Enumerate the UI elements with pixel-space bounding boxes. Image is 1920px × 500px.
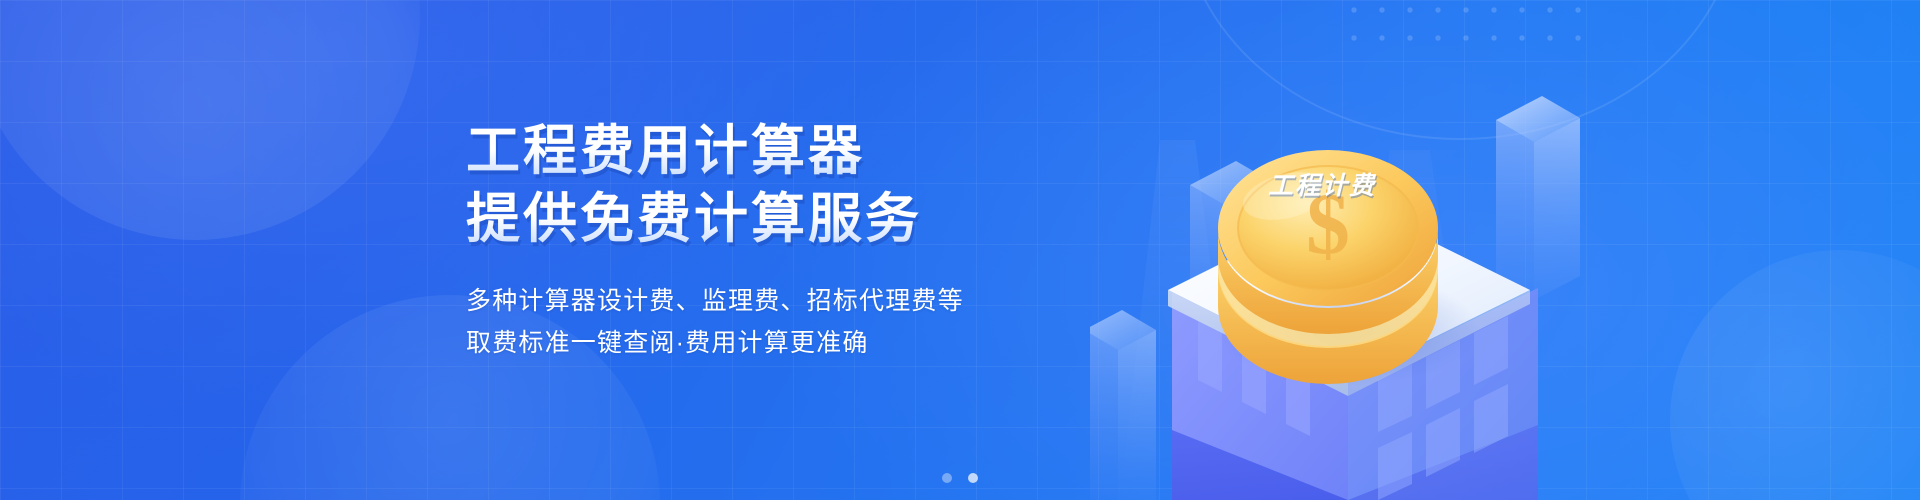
light-beams <box>1120 140 1480 500</box>
illustration-label: 工程计费 <box>1268 166 1376 202</box>
coin-shadow <box>1216 274 1480 386</box>
decorative-dot-grid <box>1340 0 1590 42</box>
carousel-dot-2[interactable] <box>968 473 978 483</box>
banner-subtitle-line-1: 多种计算器设计费、监理费、招标代理费等 <box>466 280 964 322</box>
isometric-platform <box>1168 200 1530 396</box>
coin-dollar-symbol: $ <box>1306 176 1350 273</box>
background-bar-mid-left <box>1190 161 1274 340</box>
illustration-svg: $ <box>1090 0 1610 500</box>
decorative-arc-top-right <box>1180 0 1740 140</box>
banner-title-line-2: 提供免费计算服务 <box>466 188 964 250</box>
banner-title-line-1: 工程费用计算器 <box>466 120 964 182</box>
decorative-circle-right <box>1670 250 1920 500</box>
background-bar-left-small <box>1090 310 1156 500</box>
carousel-dots[interactable] <box>0 473 1920 483</box>
banner-illustration: $ 工程计费 <box>1090 0 1610 500</box>
gold-coin-stack: $ <box>1218 150 1438 384</box>
building-windows-left <box>1198 318 1310 436</box>
background-bar-far-right <box>1496 96 1580 300</box>
carousel-dot-1[interactable] <box>942 473 952 483</box>
banner-text-content: 工程费用计算器 提供免费计算服务 多种计算器设计费、监理费、招标代理费等 取费标… <box>466 0 964 500</box>
hero-banner: 工程费用计算器 提供免费计算服务 多种计算器设计费、监理费、招标代理费等 取费标… <box>0 0 1920 500</box>
decorative-circle-top-left <box>0 0 420 240</box>
banner-subtitle-line-2: 取费标准一键查阅·费用计算更准确 <box>466 322 964 364</box>
isometric-building <box>1170 196 1552 500</box>
